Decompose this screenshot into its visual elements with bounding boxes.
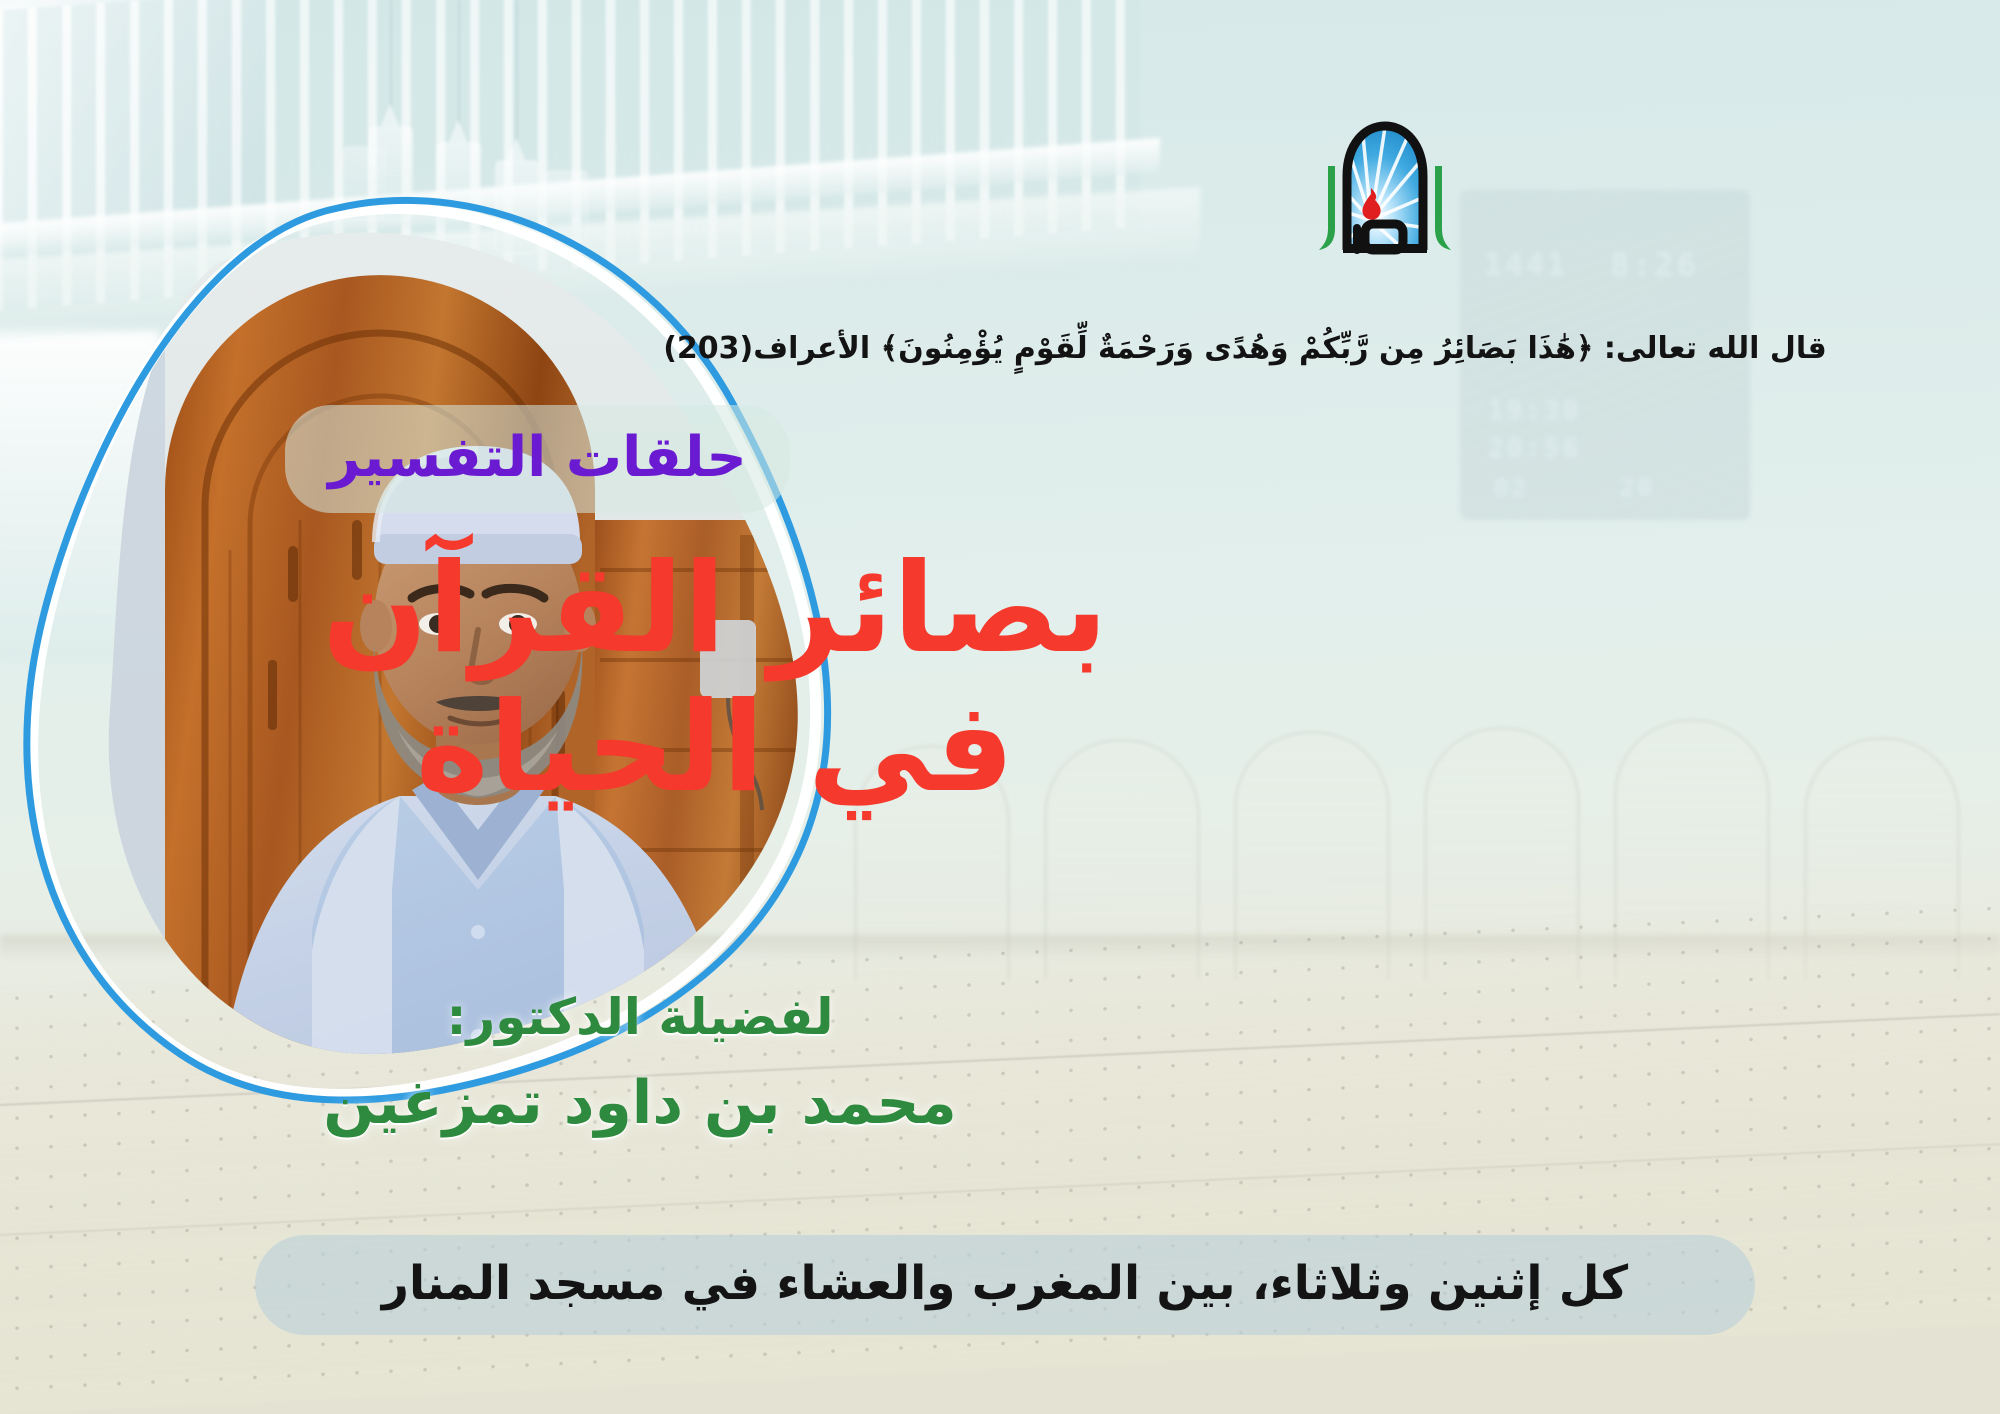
- speaker-name: محمد بن داود تمزغين: [270, 1068, 1010, 1138]
- schedule-banner-text: كل إثنين وثلاثاء، بين المغرب والعشاء في …: [255, 1256, 1755, 1311]
- logo-alif-right: [1435, 166, 1451, 250]
- poster-title-line-2: في الحياة: [285, 679, 1145, 818]
- poster-root: 1441 8:26 19:30 20:56 02 20: [0, 0, 2000, 1414]
- poster-title: بصائر القرآن في الحياة: [285, 540, 1145, 818]
- logo-alif-left: [1319, 166, 1335, 250]
- poster-title-line-1: بصائر القرآن: [285, 540, 1145, 679]
- al-manar-logo: [1295, 110, 1475, 260]
- speaker-honorific: لفضيلة الدكتور:: [290, 988, 990, 1046]
- series-badge-label: حلقات التفسير: [285, 425, 790, 490]
- quran-verse: قال الله تعالى: ﴿هَٰذَا بَصَائِرُ مِن رَ…: [610, 326, 1880, 371]
